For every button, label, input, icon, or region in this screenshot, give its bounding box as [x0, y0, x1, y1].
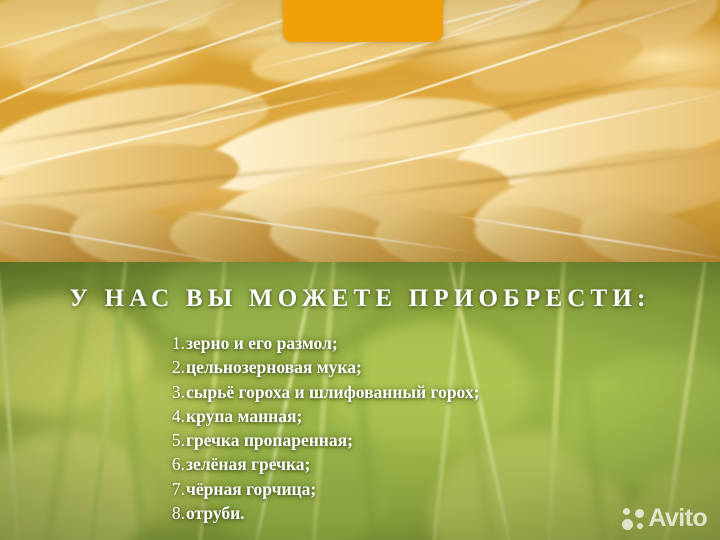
list-item-label: отруби. — [186, 501, 245, 525]
list-item-number: 3. — [163, 380, 185, 404]
list-item: 6. зелёная гречка; — [163, 452, 479, 476]
list-item: 5. гречка пропаренная; — [163, 428, 479, 452]
list-item-number: 7. — [163, 477, 185, 501]
list-item-number: 2. — [163, 355, 185, 379]
page-title: У НАС ВЫ МОЖЕТЕ ПРИОБРЕСТИ: — [0, 285, 720, 313]
avito-dots-icon — [622, 508, 644, 530]
list-item-number: 8. — [163, 501, 185, 525]
avito-watermark: Avito — [622, 506, 707, 531]
product-list: 1. зерно и его размол; 2. цельнозерновая… — [163, 331, 479, 525]
list-item-label: цельнозерновая мука; — [186, 355, 362, 379]
list-item-label: зерно и его размол; — [186, 331, 338, 355]
list-item-number: 4. — [163, 404, 185, 428]
list-item-label: сырьё гороха и шлифованный горох; — [186, 380, 479, 404]
list-item: 1. зерно и его размол; — [163, 331, 479, 355]
list-item: 8. отруби. — [163, 501, 479, 525]
listing-image: У НАС ВЫ МОЖЕТЕ ПРИОБРЕСТИ: 1. зерно и е… — [0, 0, 720, 540]
list-item-label: чёрная горчица; — [186, 477, 316, 501]
list-item: 4. крупа манная; — [163, 404, 479, 428]
list-item-number: 1. — [163, 331, 185, 355]
list-item: 3. сырьё гороха и шлифованный горох; — [163, 380, 479, 404]
list-item-label: гречка пропаренная; — [186, 428, 353, 452]
list-item-number: 5. — [163, 428, 185, 452]
list-item-number: 6. — [163, 452, 185, 476]
list-item-label: зелёная гречка; — [186, 452, 310, 476]
list-item-label: крупа манная; — [186, 404, 302, 428]
list-item: 7. чёрная горчица; — [163, 477, 479, 501]
list-item: 2. цельнозерновая мука; — [163, 355, 479, 379]
avito-wordmark: Avito — [648, 506, 707, 531]
